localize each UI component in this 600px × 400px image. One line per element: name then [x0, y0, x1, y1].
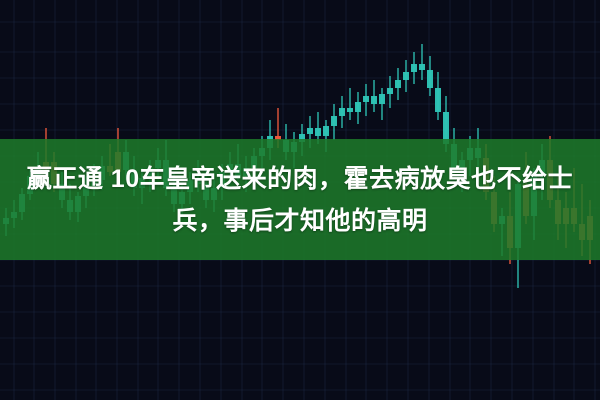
caption-line-1: 赢正通 10车皇帝送来的肉，霍去病放臭也不给士 [27, 158, 573, 200]
screenshot-root: 赢正通 10车皇帝送来的肉，霍去病放臭也不给士 兵，事后才知他的高明 [0, 0, 600, 400]
caption-text-block: 赢正通 10车皇帝送来的肉，霍去病放臭也不给士 兵，事后才知他的高明 [0, 139, 600, 260]
caption-line-2: 兵，事后才知他的高明 [172, 200, 427, 242]
